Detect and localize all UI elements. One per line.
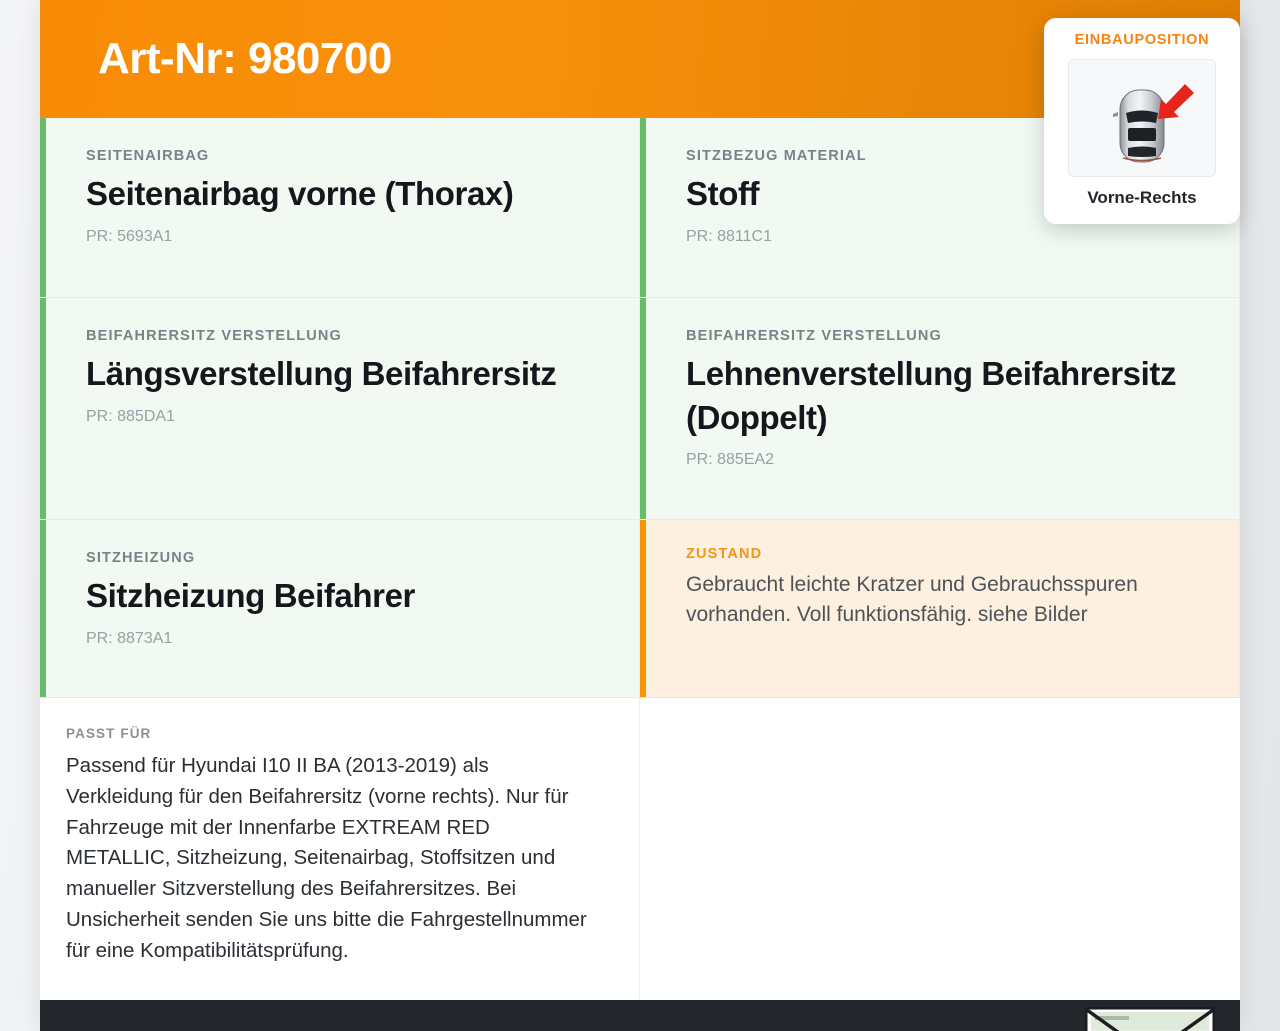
- spec-pr-code: PR: 885DA1: [86, 408, 599, 426]
- spec-value: Längsverstellung Beifahrersitz: [86, 352, 599, 396]
- spec-cell-zustand: ZUSTAND Gebraucht leichte Kratzer und Ge…: [640, 520, 1240, 698]
- spec-label: SEITENAIRBAG: [86, 148, 599, 164]
- spec-label: BEIFAHRERSITZ VERSTELLUNG: [86, 328, 599, 344]
- spec-cell-lehnenverstellung: BEIFAHRERSITZ VERSTELLUNG Lehnenverstell…: [640, 298, 1240, 520]
- envelope-with-vehicle-document-icon: [1085, 1007, 1215, 1031]
- fitment-text: Passend für Hyundai I10 II BA (2013-2019…: [66, 751, 599, 966]
- page-footer: GEBRAUCHTER ZUSTAND - SIEHE FOTOS - KOMP…: [40, 1000, 1240, 1031]
- spec-cell-sitzheizung: SITZHEIZUNG Sitzheizung Beifahrer PR: 88…: [40, 520, 640, 698]
- spec-pr-code: PR: 8811C1: [686, 228, 1199, 246]
- spec-label: BEIFAHRERSITZ VERSTELLUNG: [686, 328, 1199, 344]
- condition-text: Gebraucht leichte Kratzer und Gebrauchss…: [686, 570, 1199, 631]
- spec-value: Lehnenverstellung Beifahrersitz (Doppelt…: [686, 352, 1199, 439]
- spec-value: Seitenairbag vorne (Thorax): [86, 172, 599, 216]
- spec-value: Sitzheizung Beifahrer: [86, 574, 599, 618]
- spec-label: SITZHEIZUNG: [86, 550, 599, 566]
- spec-pr-code: PR: 885EA2: [686, 451, 1199, 469]
- installation-position-card[interactable]: EINBAUPOSITION: [1044, 18, 1240, 224]
- installation-position-caption: Vorne-Rechts: [1058, 188, 1226, 208]
- product-spec-page: Art-Nr: 980700 SEITENAIRBAG Seitenairbag…: [0, 0, 1280, 1031]
- condition-label: ZUSTAND: [686, 546, 1199, 562]
- spec-cell-seitenairbag: SEITENAIRBAG Seitenairbag vorne (Thorax)…: [40, 118, 640, 298]
- fitment-section: PASST FÜR Passend für Hyundai I10 II BA …: [40, 698, 640, 1000]
- spec-pr-code: PR: 5693A1: [86, 228, 599, 246]
- fitment-label: PASST FÜR: [66, 726, 599, 741]
- spec-cell-laengsverstellung: BEIFAHRERSITZ VERSTELLUNG Längsverstellu…: [40, 298, 640, 520]
- car-top-view-with-arrow-icon: [1068, 59, 1216, 177]
- card-body: SEITENAIRBAG Seitenairbag vorne (Thorax)…: [40, 118, 1240, 1000]
- page-title: Art-Nr: 980700: [40, 37, 392, 81]
- spec-pr-code: PR: 8873A1: [86, 630, 599, 648]
- installation-position-title: EINBAUPOSITION: [1058, 32, 1226, 48]
